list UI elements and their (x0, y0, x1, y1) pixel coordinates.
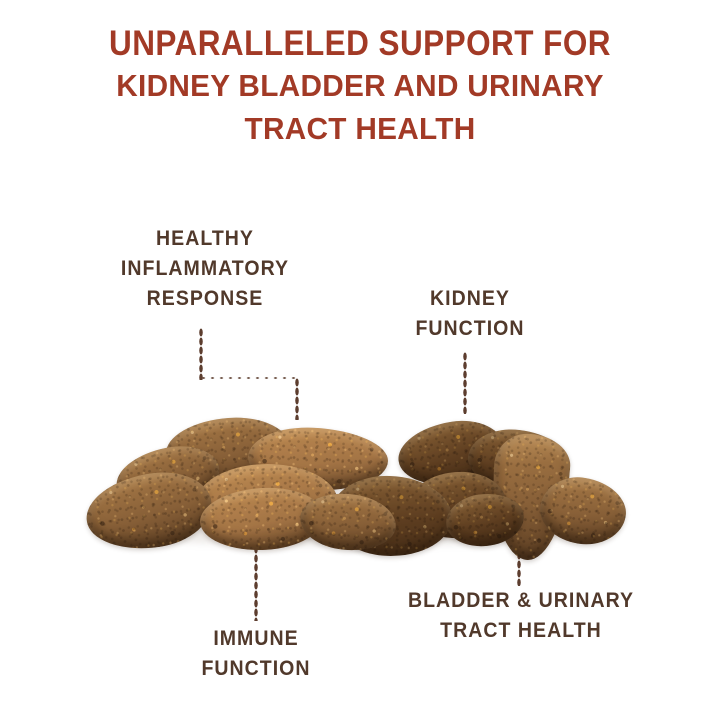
leader-line-inflammatory-vertical-top (199, 328, 203, 380)
callout-bladder-line-1: BLADDER & URINARY (386, 586, 656, 616)
callout-kidney-function: KIDNEY FUNCTION (370, 284, 570, 344)
callout-immune-line-1: IMMUNE (172, 624, 339, 654)
headline-line-1: UNPARALLELED SUPPORT FOR (36, 24, 684, 64)
callout-inflammatory-line-3: RESPONSE (70, 284, 340, 314)
product-benefit-infographic: UNPARALLELED SUPPORT FOR KIDNEY BLADDER … (0, 0, 720, 720)
leader-line-inflammatory-vertical-bottom (295, 378, 299, 420)
callout-healthy-inflammatory-response: HEALTHY INFLAMMATORY RESPONSE (60, 224, 350, 314)
leader-line-kidney (463, 352, 467, 414)
leader-line-inflammatory-horizontal (199, 376, 299, 380)
callout-immune-function: IMMUNE FUNCTION (166, 624, 346, 684)
callout-kidney-line-2: FUNCTION (377, 314, 563, 344)
headline-line-2: KIDNEY BLADDER AND URINARY (14, 64, 705, 107)
kibble-pile-image (0, 400, 720, 580)
callout-bladder-urinary-tract-health: BLADDER & URINARY TRACT HEALTH (376, 586, 666, 646)
headline-line-3: TRACT HEALTH (14, 107, 705, 150)
leader-line-immune (254, 545, 258, 621)
callout-bladder-line-2: TRACT HEALTH (386, 616, 656, 646)
callout-inflammatory-line-2: INFLAMMATORY (70, 254, 340, 284)
callout-immune-line-2: FUNCTION (172, 654, 339, 684)
page-title: UNPARALLELED SUPPORT FOR KIDNEY BLADDER … (0, 24, 720, 150)
callout-inflammatory-line-1: HEALTHY (70, 224, 340, 254)
callout-kidney-line-1: KIDNEY (377, 284, 563, 314)
